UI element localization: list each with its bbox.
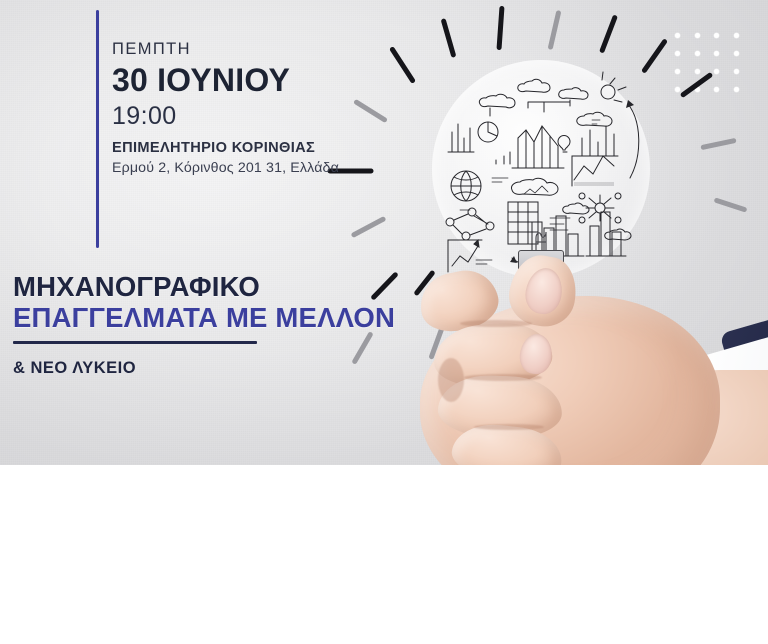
- event-date: 30 ΙΟΥΝΙΟΥ: [112, 62, 412, 100]
- poster-footer: ΔΙΟΡΓΑΝΩΣΗ ΧΟΡΗΓΟΣ ΟΜΙΛΗΤΗΣ: [0, 465, 768, 644]
- poster-hero: ΠΕΜΠΤΗ 30 ΙΟΥΝΙΟΥ 19:00 ΕΠΙΜΕΛΗΤΗΡΙΟ ΚΟΡ…: [0, 0, 768, 465]
- title-line-3: & ΝΕΟ ΛΥΚΕΙΟ: [13, 359, 483, 378]
- event-date-block: ΠΕΜΠΤΗ 30 ΙΟΥΝΙΟΥ 19:00 ΕΠΙΜΕΛΗΤΗΡΙΟ ΚΟΡ…: [112, 40, 412, 178]
- bulb-filament: [524, 220, 558, 254]
- title-underline: [13, 341, 257, 344]
- title-line-1: ΜΗΧΑΝΟΓΡΑΦΙΚΟ: [13, 272, 483, 303]
- title-line-2: ΕΠΑΓΓΕΛΜΑΤΑ ΜΕ ΜΕΛΛΟΝ: [13, 303, 483, 334]
- event-venue: ΕΠΙΜΕΛΗΤΗΡΙΟ ΚΟΡΙΝΘΙΑΣ: [112, 140, 412, 158]
- accent-vertical-line: [96, 10, 99, 248]
- event-time: 19:00: [112, 101, 412, 131]
- knuckle-crease: [474, 424, 544, 430]
- event-address: Ερμού 2, Κόρινθος 201 31, Ελλάδα: [112, 160, 412, 178]
- poster-title-block: ΜΗΧΑΝΟΓΡΑΦΙΚΟ ΕΠΑΓΓΕΛΜΑΤΑ ΜΕ ΜΕΛΛΟΝ & ΝΕ…: [13, 272, 483, 378]
- event-day-of-week: ΠΕΜΠΤΗ: [112, 40, 412, 58]
